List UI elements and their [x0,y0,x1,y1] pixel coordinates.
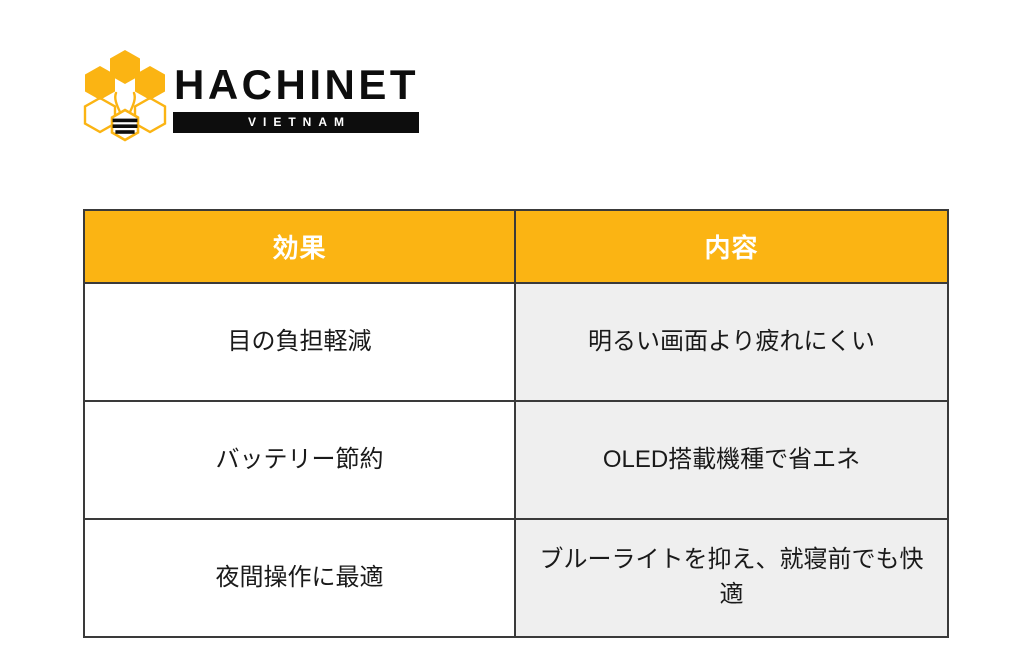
logo-wordmark: HACHINET VIETNAM [173,64,419,133]
table-row: バッテリー節約 OLED搭載機種で省エネ [84,401,948,519]
column-header-detail: 内容 [515,210,948,283]
benefits-table-container: 効果 内容 目の負担軽減 明るい画面より疲れにくい バッテリー節約 OLED搭載… [83,209,947,638]
table-body: 目の負担軽減 明るい画面より疲れにくい バッテリー節約 OLED搭載機種で省エネ… [84,283,948,637]
logo-country-label: VIETNAM [241,116,351,128]
cell-detail: ブルーライトを抑え、就寝前でも快適 [515,519,948,637]
table-header: 効果 内容 [84,210,948,283]
cell-detail: 明るい画面より疲れにくい [515,283,948,401]
column-header-effect: 効果 [84,210,515,283]
cell-effect: 夜間操作に最適 [84,519,515,637]
brand-logo: HACHINET VIETNAM [83,48,419,148]
logo-subtitle-bar: VIETNAM [173,112,419,133]
logo-company-name: HACHINET [173,64,419,106]
cell-effect: 目の負担軽減 [84,283,515,401]
benefits-table: 効果 内容 目の負担軽減 明るい画面より疲れにくい バッテリー節約 OLED搭載… [83,209,949,638]
cell-detail: OLED搭載機種で省エネ [515,401,948,519]
cell-effect: バッテリー節約 [84,401,515,519]
table-header-row: 効果 内容 [84,210,948,283]
table-row: 目の負担軽減 明るい画面より疲れにくい [84,283,948,401]
table-row: 夜間操作に最適 ブルーライトを抑え、就寝前でも快適 [84,519,948,637]
honeycomb-bee-icon [83,48,167,148]
